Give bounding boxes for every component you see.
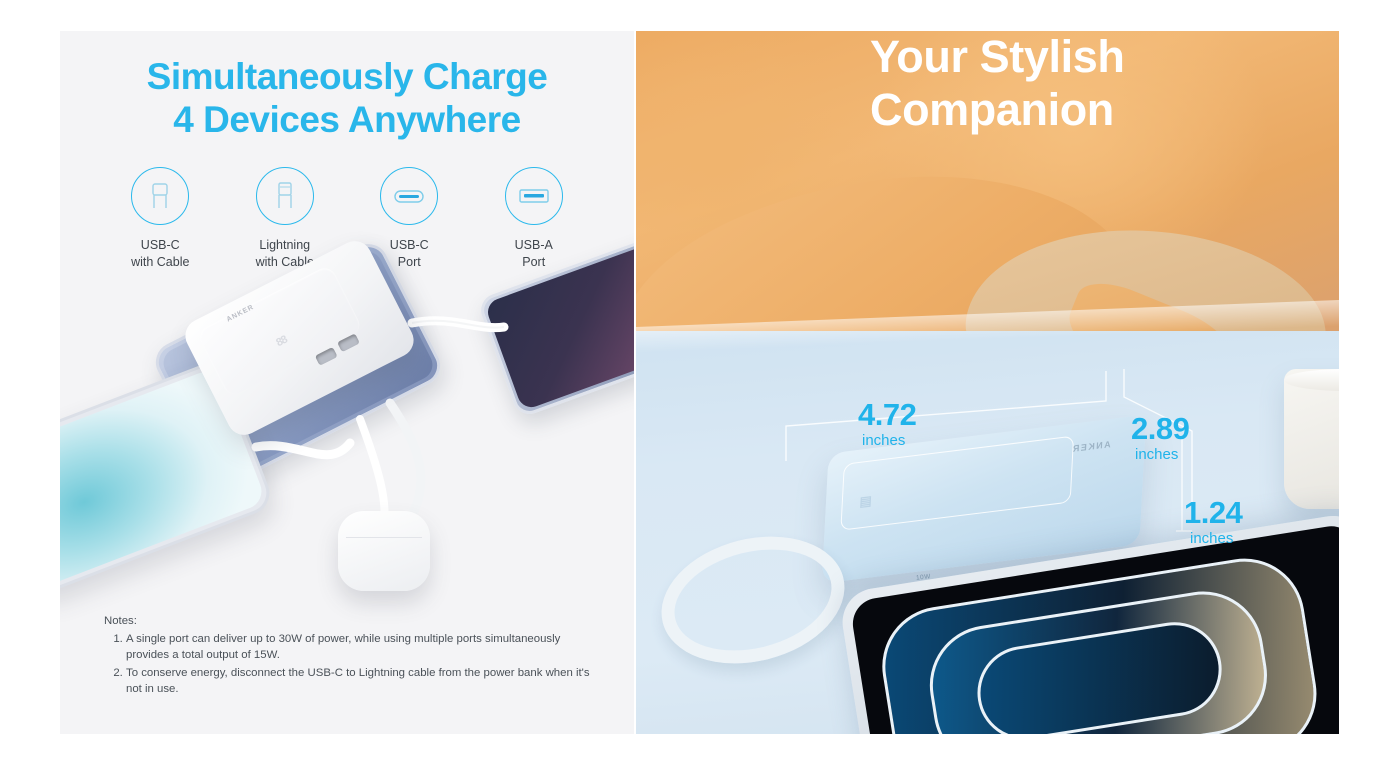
left-feature-panel: Simultaneously Charge 4 Devices Anywhere… [60, 31, 634, 734]
feature-item-usb-c-cable: USB-C with Cable [105, 167, 215, 270]
usb-c-port-icon [380, 167, 438, 225]
dimension-height: 1.24 inches [1184, 497, 1242, 551]
dimension-unit: inches [862, 430, 916, 453]
left-headline: Simultaneously Charge 4 Devices Anywhere [60, 55, 634, 142]
marketing-image-stage: Simultaneously Charge 4 Devices Anywhere… [0, 0, 1400, 770]
note-item: To conserve energy, disconnect the USB-C… [126, 665, 604, 697]
left-product-scene: ANKER 88 [60, 271, 634, 641]
dimension-unit: inches [1135, 444, 1189, 467]
earbuds-case [338, 511, 430, 591]
dimension-value: 1.24 [1184, 495, 1242, 530]
left-headline-line1: Simultaneously Charge [147, 56, 548, 97]
dimension-unit: inches [1190, 528, 1242, 551]
feature-label: USB-C Port [390, 237, 429, 270]
feature-item-usb-a-port: USB-A Port [479, 167, 589, 270]
notes-list: A single port can deliver up to 30W of p… [104, 631, 604, 697]
left-headline-line2: 4 Devices Anywhere [60, 98, 634, 141]
notes-block: Notes: A single port can deliver up to 3… [104, 613, 604, 698]
feature-label: USB-C with Cable [131, 237, 189, 270]
notes-heading: Notes: [104, 613, 604, 629]
note-item: A single port can deliver up to 30W of p… [126, 631, 604, 663]
usb-a-port-icon [505, 167, 563, 225]
dimension-width: 2.89 inches [1131, 413, 1189, 467]
dimension-value: 4.72 [858, 397, 916, 432]
usb-c-connector-icon [131, 167, 189, 225]
brand-label: ANKER [1072, 439, 1112, 454]
right-lifestyle-panel: Your Stylish Companion ANKER ▤ 10W OUT [636, 31, 1339, 734]
dimension-value: 2.89 [1131, 411, 1189, 446]
dimension-length: 4.72 inches [858, 399, 916, 453]
lightning-connector-icon [256, 167, 314, 225]
feature-label: USB-A Port [515, 237, 553, 270]
battery-icon: ▤ [859, 493, 872, 511]
